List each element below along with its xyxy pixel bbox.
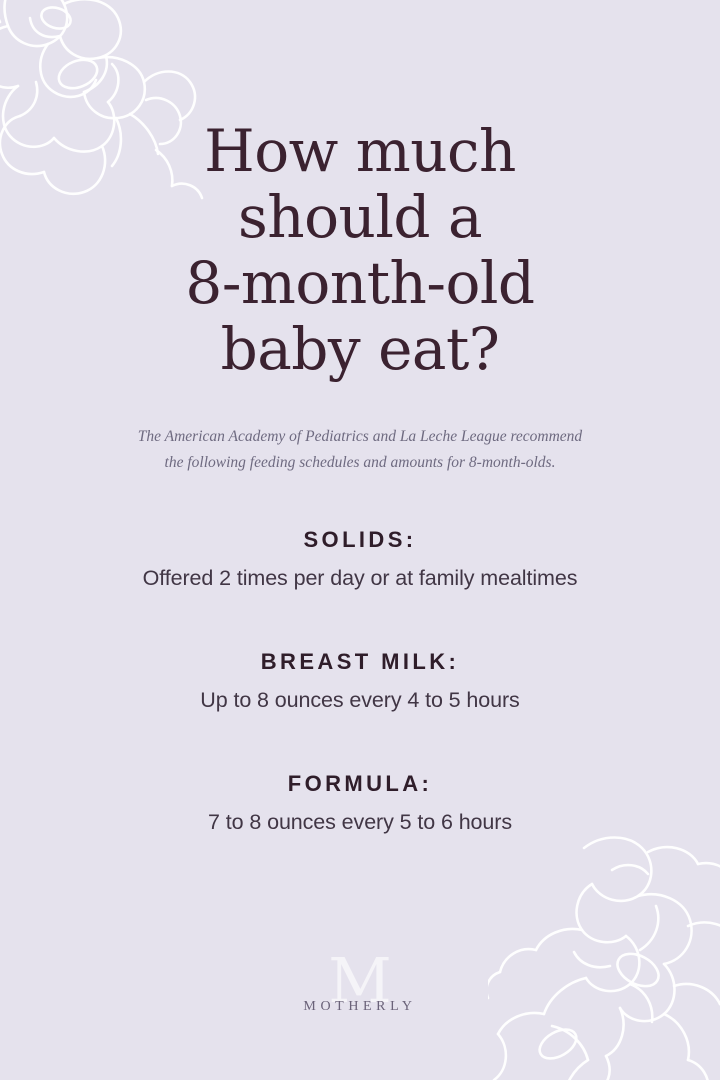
section-detail-solids: Offered 2 times per day or at family mea… (60, 566, 660, 591)
page-title: How much should a 8-month-old baby eat? (60, 0, 660, 382)
section-heading-formula: FORMULA: (60, 771, 660, 797)
title-line-3: 8-month-old (60, 250, 660, 316)
section-detail-breast-milk: Up to 8 ounces every 4 to 5 hours (60, 688, 660, 713)
section-detail-formula: 7 to 8 ounces every 5 to 6 hours (60, 810, 660, 835)
poster-content: How much should a 8-month-old baby eat? … (0, 0, 720, 1080)
section-formula: FORMULA: 7 to 8 ounces every 5 to 6 hour… (60, 771, 660, 835)
subtitle-line-1: The American Academy of Pediatrics and L… (110, 424, 610, 449)
infographic-poster: How much should a 8-month-old baby eat? … (0, 0, 720, 1080)
section-breast-milk: BREAST MILK: Up to 8 ounces every 4 to 5… (60, 649, 660, 713)
title-line-4: baby eat? (60, 316, 660, 382)
brand-logo: M MOTHERLY (0, 956, 720, 1032)
feeding-sections: SOLIDS: Offered 2 times per day or at fa… (60, 475, 660, 835)
brand-wordmark: MOTHERLY (303, 999, 416, 1015)
subtitle-line-2: the following feeding schedules and amou… (110, 450, 610, 475)
title-line-2: should a (60, 184, 660, 250)
subtitle: The American Academy of Pediatrics and L… (110, 382, 610, 474)
section-heading-solids: SOLIDS: (60, 527, 660, 553)
title-line-1: How much (60, 118, 660, 184)
section-solids: SOLIDS: Offered 2 times per day or at fa… (60, 527, 660, 591)
section-heading-breast-milk: BREAST MILK: (60, 649, 660, 675)
